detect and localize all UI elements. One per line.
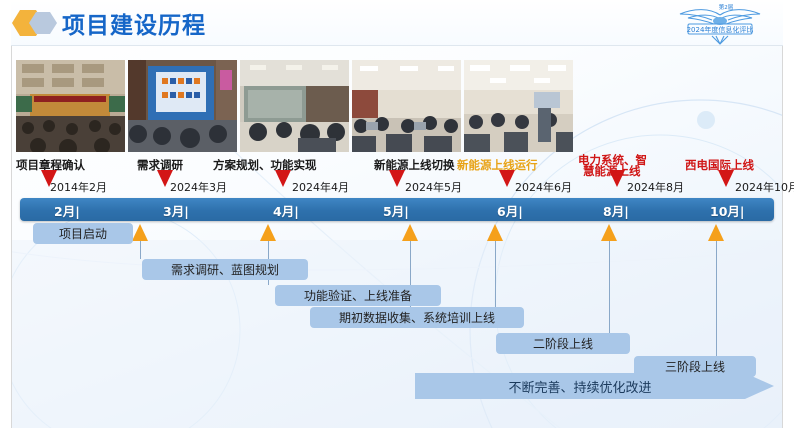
logo-subtext: 第2届 — [719, 3, 734, 11]
milestone-marker-icon-3 — [389, 170, 405, 187]
hexagon-pair-icon — [12, 8, 64, 38]
page-title: 项目建设历程 — [62, 6, 206, 40]
milestone-title-3: 新能源上线切换 — [374, 157, 455, 173]
connector-line-3 — [495, 241, 496, 307]
milestone-date-3: 2024年5月 — [405, 179, 462, 195]
milestone-marker-icon-4 — [499, 170, 515, 187]
timeline-bar[interactable]: 2月|3月|4月|5月|6月|8月|10月| — [20, 198, 774, 221]
milestone-date-6: 2024年10月 — [735, 179, 794, 195]
milestone-date-2: 2024年4月 — [292, 179, 349, 195]
phase-marker-icon-3 — [487, 224, 503, 241]
milestone-marker-icon-2 — [275, 170, 291, 187]
milestone-date-1: 2024年3月 — [170, 179, 227, 195]
milestone-title-4: 新能源上线运行 — [457, 157, 538, 173]
connector-line-5 — [716, 241, 717, 356]
timeline-tick-4: 6月| — [497, 201, 523, 220]
slide-right-margin — [782, 0, 794, 428]
milestone-marker-icon-0 — [41, 170, 57, 187]
logo-text: 2024年度信息化评比 — [687, 25, 754, 34]
connector-line-4 — [609, 241, 610, 333]
phase-marker-icon-2 — [402, 224, 418, 241]
milestone-title-5-line2: 慧能源上线 — [583, 163, 641, 179]
phase-box-3[interactable]: 期初数据收集、系统培训上线 — [310, 307, 524, 328]
milestone-marker-icon-1 — [157, 170, 173, 187]
photo-open-office — [352, 60, 461, 152]
milestone-date-4: 2024年6月 — [515, 179, 572, 195]
timeline-tick-6: 10月| — [710, 201, 744, 220]
milestone-marker-icon-6 — [718, 170, 734, 187]
slide-root: 项目建设历程 2024年度信息化评比 第2届 — [0, 0, 794, 428]
slide-left-margin — [0, 0, 12, 428]
photo-presentation-room — [128, 60, 237, 152]
timeline-tick-5: 8月| — [603, 201, 629, 220]
milestone-title-2: 方案规划、功能实现 — [213, 157, 317, 173]
phase-marker-icon-5 — [708, 224, 724, 241]
phase-marker-icon-1 — [260, 224, 276, 241]
milestone-date-5: 2024年8月 — [627, 179, 684, 195]
photo-meeting-room — [240, 60, 349, 152]
phase-marker-icon-4 — [601, 224, 617, 241]
continuous-improvement-banner[interactable]: 不断完善、持续优化改进 — [415, 373, 774, 399]
phase-box-2[interactable]: 功能验证、上线准备 — [275, 285, 441, 306]
phase-marker-icon-0 — [132, 224, 148, 241]
phase-box-4[interactable]: 二阶段上线 — [496, 333, 630, 354]
eagle-wings-logo-icon: 2024年度信息化评比 第2届 — [666, 2, 774, 46]
photo-training-room — [464, 60, 573, 152]
photo-conference-hall — [16, 60, 125, 152]
timeline-tick-0: 2月| — [54, 201, 80, 220]
timeline-tick-2: 4月| — [273, 201, 299, 220]
milestone-date-0: 2014年2月 — [50, 179, 107, 195]
timeline-tick-1: 3月| — [163, 201, 189, 220]
banner-label: 不断完善、持续优化改进 — [415, 373, 745, 399]
phase-box-1[interactable]: 需求调研、蓝图规划 — [142, 259, 308, 280]
photo-strip — [16, 60, 573, 152]
phase-box-0[interactable]: 项目启动 — [33, 223, 133, 244]
connector-line-0 — [140, 241, 141, 259]
timeline-tick-3: 5月| — [383, 201, 409, 220]
